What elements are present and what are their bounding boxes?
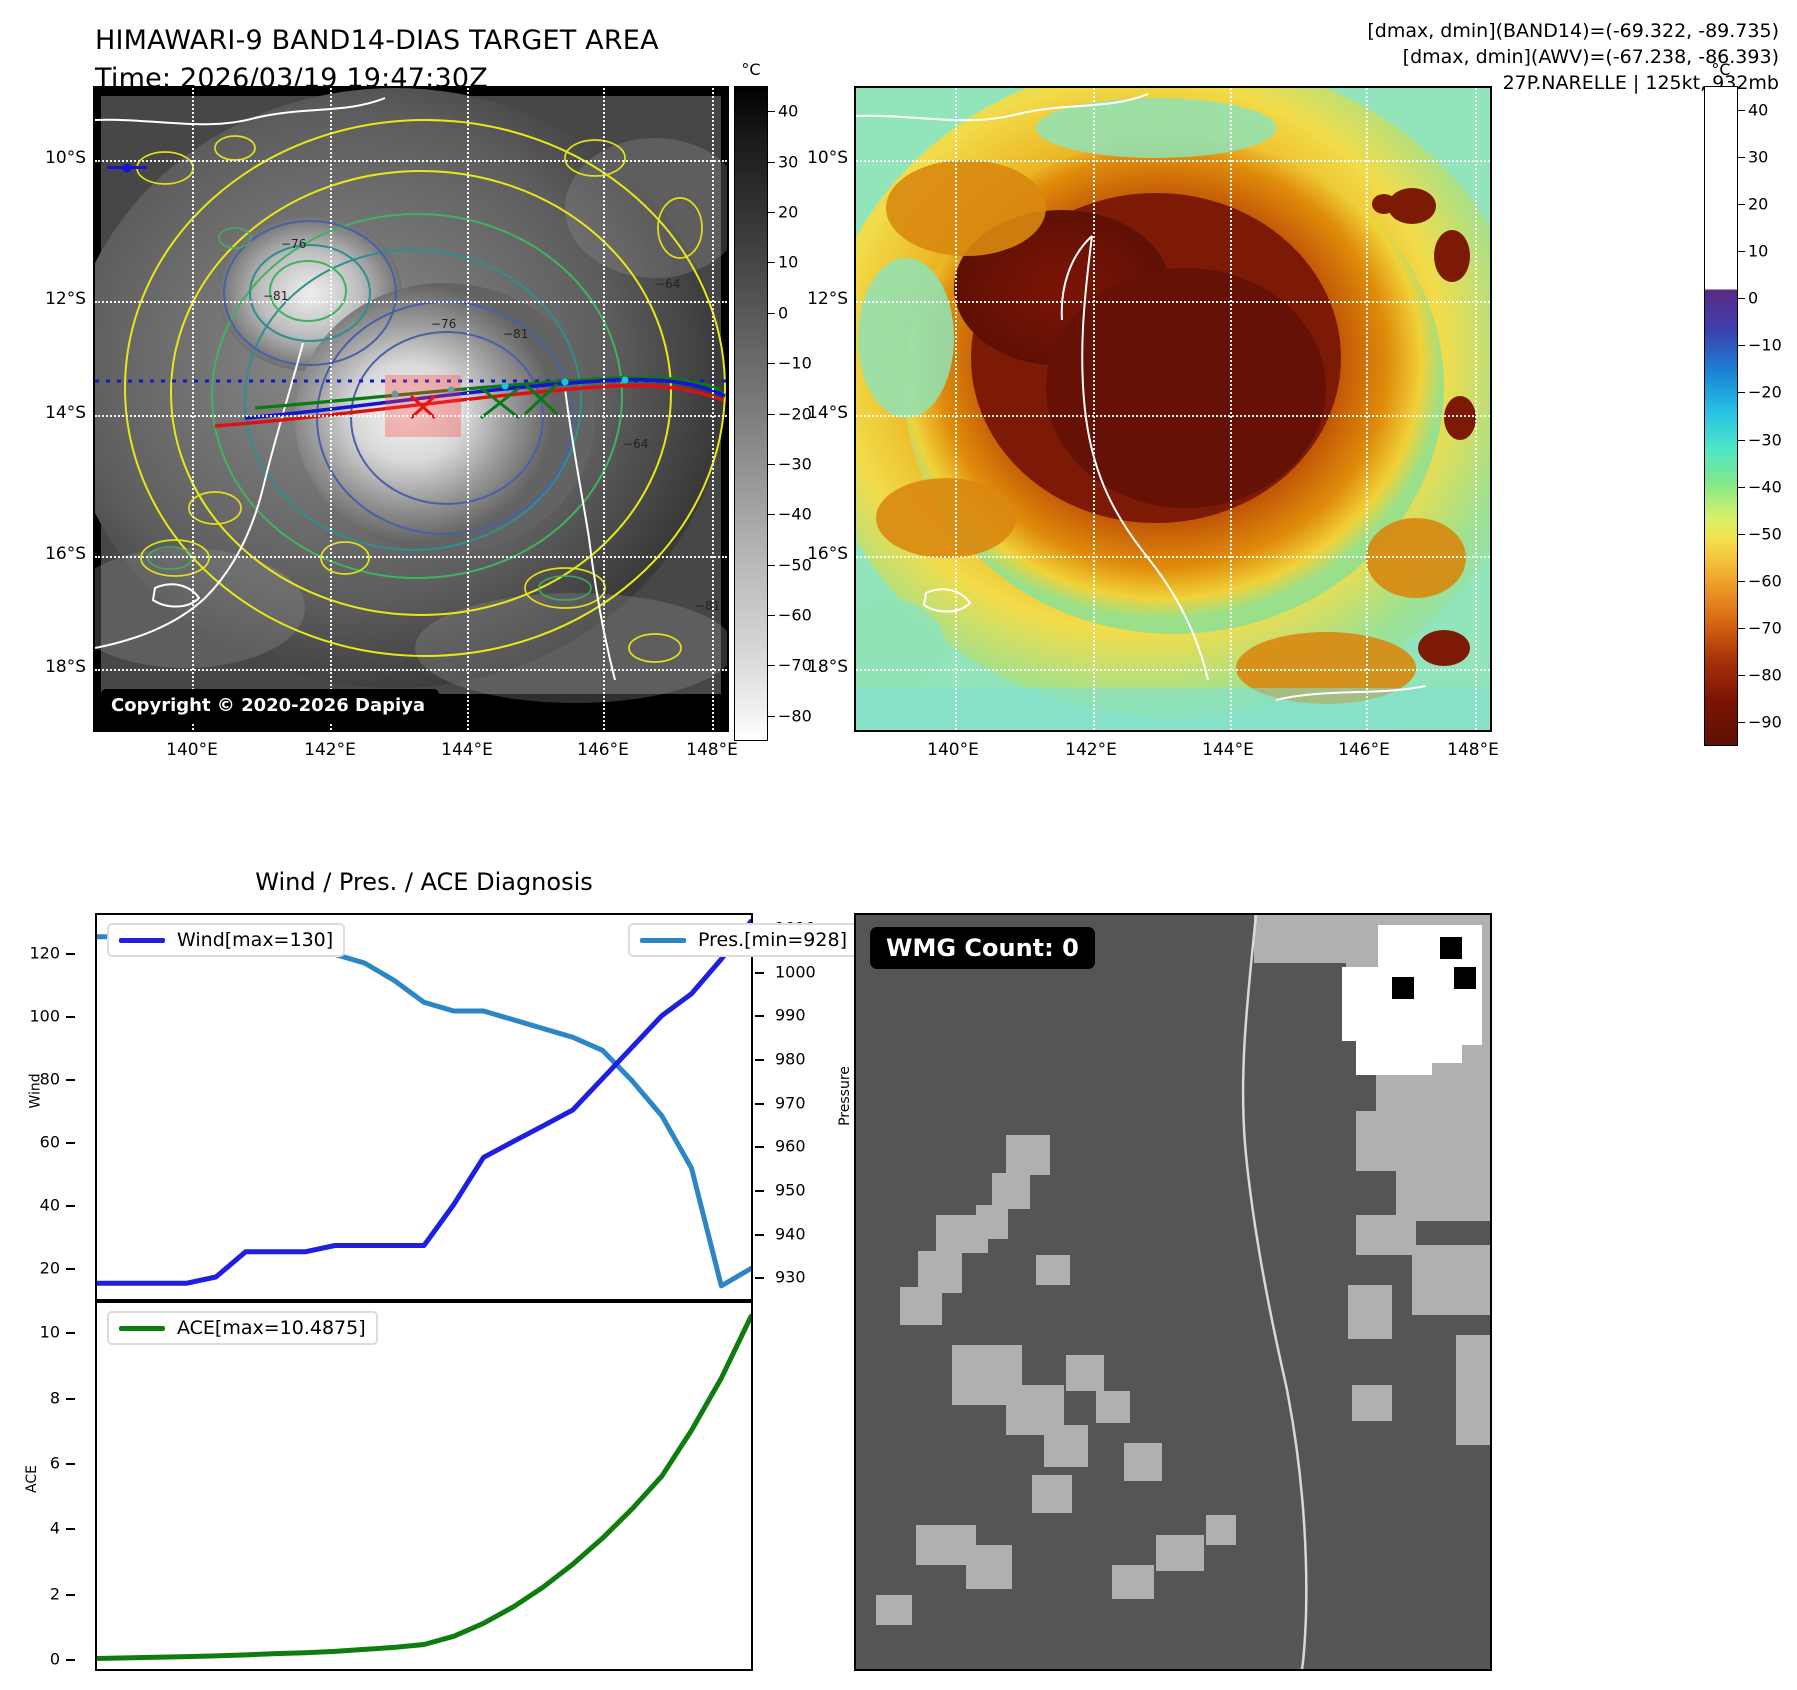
ir-gridline-lat-18s [95, 669, 727, 671]
colorbar-tickmark [1738, 298, 1745, 299]
axis-tick-label: 960 [775, 1137, 806, 1156]
axis-tick-label: 970 [775, 1093, 806, 1112]
axis-tickmark [755, 1059, 764, 1061]
pressure-legend[interactable]: Pres.[min=928] [628, 923, 859, 957]
colorbar-tickmark [1738, 722, 1745, 723]
axis-tick-label: 980 [775, 1050, 806, 1069]
colorbar-tick-label: −90 [1748, 713, 1782, 732]
wind-legend[interactable]: Wind[max=130] [107, 923, 345, 957]
colorbar-tickmark [1738, 487, 1745, 488]
wind-axis-label: Wind [28, 1073, 44, 1108]
axis-tickmark [66, 1463, 75, 1465]
ir-lat-tick: 10°S [45, 148, 86, 168]
axis-tick-label: 100 [0, 1006, 60, 1025]
colorbar-tickmark [1738, 440, 1745, 441]
colorbar-tick-label: −30 [1748, 430, 1782, 449]
ir-gridline-lon-144e [467, 88, 469, 730]
eir-lat-axis: 10°S 12°S 14°S 16°S 18°S [760, 86, 848, 732]
colorbar-tickmark [1738, 628, 1745, 629]
ir-colorbar-unit: °C [730, 60, 772, 79]
ir-lat-tick: 14°S [45, 403, 86, 423]
axis-tick-label: 4 [0, 1519, 60, 1538]
eir-gridline-lat-12s [856, 301, 1490, 303]
eir-gridline-lat-10s [856, 160, 1490, 162]
ir-gridline-lat-16s [95, 556, 727, 558]
ir-gridline-lon-142e [330, 88, 332, 730]
ir-satellite-map[interactable]: −76−81 −76−81 −64−64 −81 ✖ SATCON Locati… [93, 86, 729, 732]
axis-tickmark [66, 953, 75, 955]
ir-gridline-lat-10s [95, 160, 727, 162]
colorbar-tick-label: −70 [1748, 619, 1782, 638]
enhanced-ir-map[interactable] [854, 86, 1492, 732]
axis-tick-label: 120 [0, 943, 60, 962]
axis-tickmark [755, 1015, 764, 1017]
ir-gridline-lat-14s [95, 415, 727, 417]
pressure-legend-label: Pres.[min=928] [698, 929, 847, 951]
colorbar-tick-label: −20 [1748, 383, 1782, 402]
axis-tick-label: 990 [775, 1006, 806, 1025]
svg-text:−76: −76 [281, 237, 306, 251]
eir-lat-tick: 12°S [807, 289, 848, 309]
eir-lat-tick: 14°S [807, 403, 848, 423]
ir-imagery: −76−81 −76−81 −64−64 −81 [95, 88, 727, 730]
svg-text:−81: −81 [503, 327, 528, 341]
eir-lon-axis: 140°E 142°E 144°E 146°E 148°E [854, 740, 1492, 768]
wind-axis: 20406080100120 Wind [0, 913, 93, 1301]
pressure-axis-label: Pressure [837, 1066, 853, 1126]
pressure-legend-swatch [640, 938, 686, 943]
colorbar-tick-label: 10 [1748, 242, 1768, 261]
axis-tickmark [66, 1594, 75, 1596]
eir-lat-tick: 18°S [807, 657, 848, 677]
axis-tickmark [755, 1190, 764, 1192]
axis-tick-label: 1000 [775, 962, 816, 981]
wmg-imagery [856, 915, 1490, 1669]
axis-tickmark [755, 1103, 764, 1105]
colorbar-tickmark [1738, 110, 1745, 111]
eir-gridline-lon-148e [1475, 88, 1477, 730]
svg-text:−81: −81 [695, 599, 720, 613]
copyright-notice: Copyright © 2020-2026 Dapiya [101, 689, 439, 722]
eir-gridline-lon-142e [1093, 88, 1095, 730]
colorbar-tickmark [1738, 157, 1745, 158]
axis-tickmark [66, 1016, 75, 1018]
ir-lon-tick: 142°E [304, 740, 356, 760]
axis-tick-label: 0 [0, 1650, 60, 1669]
axis-tick-label: 940 [775, 1224, 806, 1243]
wmg-map[interactable]: WMG Count: 0 [854, 913, 1492, 1671]
axis-tickmark [755, 1277, 764, 1279]
colorbar-tick-label: −40 [1748, 477, 1782, 496]
eir-colorbar-gradient [1704, 86, 1738, 746]
eir-colorbar-unit: °C [1700, 60, 1742, 79]
enhanced-ir-imagery [856, 88, 1490, 730]
wind-legend-swatch [119, 938, 165, 943]
product-title: HIMAWARI-9 BAND14-DIAS TARGET AREA [95, 22, 659, 60]
axis-tick-label: 930 [775, 1268, 806, 1287]
ir-gridline-lon-146e [603, 88, 605, 730]
svg-text:−64: −64 [655, 277, 680, 291]
ace-chart[interactable] [95, 1301, 753, 1671]
axis-tickmark [66, 1079, 75, 1081]
axis-tick-label: 60 [0, 1132, 60, 1151]
colorbar-tick-label: 30 [1748, 147, 1768, 166]
axis-tickmark [66, 1659, 75, 1661]
ir-lat-tick: 16°S [45, 544, 86, 564]
eir-lon-tick: 144°E [1202, 740, 1254, 760]
axis-tick-label: 40 [0, 1195, 60, 1214]
wind-legend-label: Wind[max=130] [177, 929, 333, 951]
colorbar-tick-label: 0 [1748, 289, 1758, 308]
ir-lat-tick: 12°S [45, 289, 86, 309]
ace-axis-label: ACE [24, 1465, 40, 1493]
pressure-axis: 93094095096097098099010001010 Pressure [753, 913, 863, 1301]
axis-tick-label: 20 [0, 1258, 60, 1277]
axis-tickmark [66, 1268, 75, 1270]
axis-tickmark [755, 972, 764, 974]
ir-lat-axis: 10°S 12°S 14°S 16°S 18°S [0, 86, 86, 732]
eir-lat-tick: 10°S [807, 148, 848, 168]
colorbar-tickmark [1738, 204, 1745, 205]
diagnosis-chart-title: Wind / Pres. / ACE Diagnosis [95, 868, 753, 896]
axis-tickmark [66, 1142, 75, 1144]
eir-gridline-lon-146e [1366, 88, 1368, 730]
ace-axis: 0246810 ACE [0, 1301, 93, 1671]
eir-gridline-lat-18s [856, 669, 1490, 671]
eir-gridline-lat-14s [856, 415, 1490, 417]
axis-tickmark [66, 1205, 75, 1207]
colorbar-tick-label: −60 [1748, 572, 1782, 591]
ace-legend[interactable]: ACE[max=10.4875] [107, 1311, 378, 1345]
colorbar-tickmark [1738, 345, 1745, 346]
colorbar-tick-label: 20 [1748, 194, 1768, 213]
colorbar-tick-label: −10 [1748, 336, 1782, 355]
ir-lon-axis: 140°E 142°E 144°E 146°E 148°E [93, 740, 729, 768]
colorbar-tick-label: −80 [1748, 666, 1782, 685]
colorbar-tick-label: 40 [1748, 100, 1768, 119]
svg-text:−64: −64 [623, 437, 648, 451]
eir-lon-tick: 148°E [1447, 740, 1499, 760]
ir-lon-tick: 140°E [166, 740, 218, 760]
eir-lat-tick: 16°S [807, 544, 848, 564]
ir-lat-tick: 18°S [45, 657, 86, 677]
colorbar-tick-label: −50 [1748, 524, 1782, 543]
ace-legend-swatch [119, 1326, 165, 1331]
axis-tickmark [66, 1398, 75, 1400]
eir-lon-tick: 140°E [927, 740, 979, 760]
track-line-dot-icon [104, 166, 150, 169]
eir-lon-tick: 146°E [1338, 740, 1390, 760]
colorbar-tickmark [1738, 392, 1745, 393]
ir-lon-tick: 146°E [577, 740, 629, 760]
dmax-band14-text: [dmax, dmin](BAND14)=(-69.322, -89.735) [1367, 18, 1779, 44]
axis-tick-label: 10 [0, 1323, 60, 1342]
axis-tick-label: 950 [775, 1180, 806, 1199]
colorbar-tickmark [1738, 675, 1745, 676]
svg-text:−76: −76 [431, 317, 456, 331]
wmg-count-badge: WMG Count: 0 [870, 927, 1095, 969]
eir-gridline-lon-144e [1230, 88, 1232, 730]
ir-gridline-lat-12s [95, 301, 727, 303]
ir-gridline-lon-148e [712, 88, 714, 730]
axis-tick-label: 8 [0, 1388, 60, 1407]
colorbar-tickmark [1738, 534, 1745, 535]
ir-lon-tick: 144°E [441, 740, 493, 760]
axis-tickmark [66, 1528, 75, 1530]
colorbar-tickmark [1738, 251, 1745, 252]
axis-tickmark [66, 1332, 75, 1334]
ir-gridline-lon-140e [192, 88, 194, 730]
eir-gridline-lon-140e [955, 88, 957, 730]
axis-tick-label: 2 [0, 1584, 60, 1603]
wind-pressure-plot-area [97, 915, 751, 1299]
axis-tickmark [755, 1146, 764, 1148]
eir-gridline-lat-16s [856, 556, 1490, 558]
axis-tickmark [755, 1234, 764, 1236]
eir-colorbar: °C 403020100−10−20−30−40−50−60−70−80−90 [1700, 60, 1797, 760]
wind-pressure-chart[interactable] [95, 913, 753, 1301]
colorbar-tickmark [1738, 581, 1745, 582]
ace-plot-area [97, 1303, 751, 1669]
ace-legend-label: ACE[max=10.4875] [177, 1317, 366, 1339]
eir-lon-tick: 142°E [1065, 740, 1117, 760]
